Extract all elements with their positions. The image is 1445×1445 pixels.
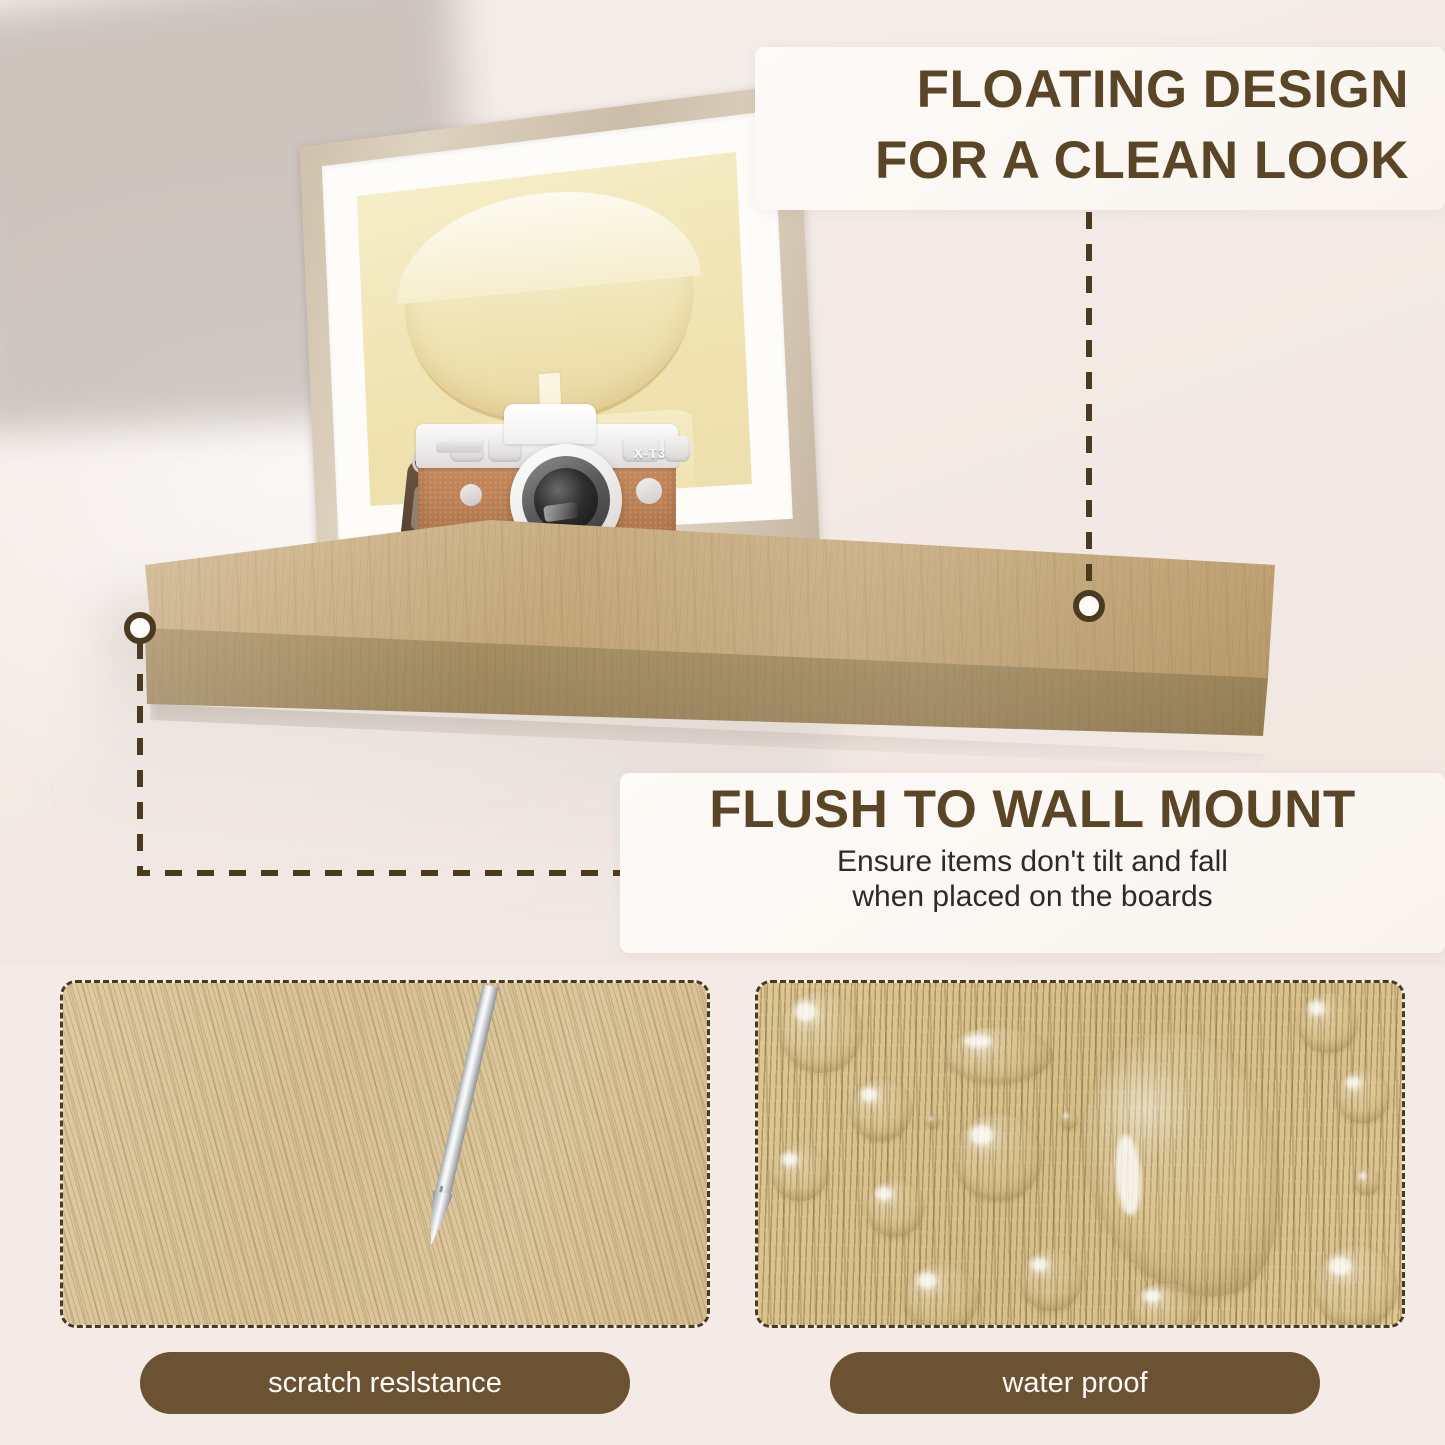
waterproof-image — [755, 980, 1405, 1328]
water-droplet — [850, 1079, 912, 1141]
hero-scene: X-T3 FLOATING DESIGN FOR A CLEAN LOOK — [0, 0, 1445, 965]
badge-waterproof: water proof — [830, 1352, 1320, 1414]
headline-flush-mount: FLUSH TO WALL MOUNT — [620, 773, 1445, 838]
water-droplet — [926, 1115, 940, 1129]
water-droplet — [866, 1179, 924, 1237]
water-droplet — [1298, 993, 1358, 1053]
water-droplet — [954, 1113, 1042, 1201]
subline-flush-mount-line2: when placed on the boards — [620, 879, 1445, 916]
water-droplet — [772, 1145, 828, 1201]
water-droplet — [1130, 1283, 1200, 1328]
water-droplet — [1020, 1249, 1082, 1311]
badge-scratch-resistance: scratch reslstance — [140, 1352, 630, 1414]
headline-floating-design-line1: FLOATING DESIGN — [755, 47, 1445, 118]
water-droplet — [904, 1263, 978, 1328]
callout-panel-flush-mount: FLUSH TO WALL MOUNT Ensure items don't t… — [620, 773, 1445, 953]
water-droplet — [1354, 1169, 1380, 1195]
headline-floating-design-line2: FOR A CLEAN LOOK — [755, 118, 1445, 189]
callout-panel-floating-design: FLOATING DESIGN FOR A CLEAN LOOK — [755, 47, 1445, 210]
product-infographic: X-T3 FLOATING DESIGN FOR A CLEAN LOOK — [0, 0, 1445, 1445]
water-droplet — [944, 1027, 1052, 1083]
scratch-resistance-image — [60, 980, 710, 1328]
water-droplet — [1314, 1245, 1398, 1328]
wood-grain-texture-diagonal — [60, 980, 710, 1328]
feature-card-scratch: scratch reslstance — [60, 980, 710, 1328]
feature-cards: scratch reslstance — [0, 965, 1445, 1445]
subline-flush-mount-line1: Ensure items don't tilt and fall — [620, 844, 1445, 881]
water-droplet — [1336, 1069, 1390, 1123]
feature-card-waterproof: water proof — [755, 980, 1405, 1328]
water-droplet — [1060, 1111, 1078, 1129]
water-droplet — [780, 991, 862, 1073]
